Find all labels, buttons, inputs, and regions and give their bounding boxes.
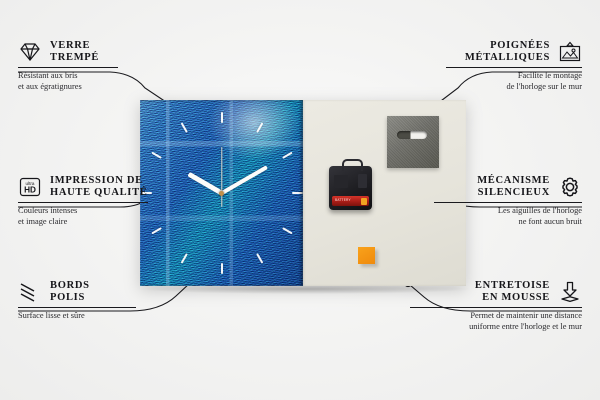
foam-spacer-icon — [558, 280, 582, 304]
feature-entretoise-mousse: ENTRETOISE EN MOUSSE Permet de maintenir… — [382, 280, 582, 332]
feature-sub-line1: Permet de maintenir une distance — [382, 311, 582, 322]
svg-text:HD: HD — [24, 186, 36, 195]
feature-sub-line1: Résistant aux bris — [18, 71, 218, 82]
feature-title-line1: IMPRESSION DE — [50, 175, 148, 187]
silent-clock-mechanism: BATTERY — [329, 166, 372, 210]
mechanism-detail-left — [334, 175, 348, 188]
infographic-canvas: BATTERY VERRE TREMPÉ Résistant aux br — [0, 0, 600, 400]
hanger-keyhole-slot — [397, 131, 427, 139]
feature-title-line1: ENTRETOISE — [475, 280, 550, 292]
feature-sub-line2: de l'horloge sur le mur — [382, 82, 582, 93]
orange-foam-spacer — [358, 247, 375, 264]
feature-title-line1: POIGNÉES — [465, 40, 550, 52]
feature-divider — [18, 307, 136, 308]
gear-icon — [558, 175, 582, 199]
feature-bords-polis: BORDS POLIS Surface lisse et sûre — [18, 280, 218, 322]
feature-title-line2: HAUTE QUALITÉ — [50, 187, 148, 199]
feature-divider — [434, 202, 582, 203]
feature-title-line2: TREMPÉ — [50, 52, 99, 64]
feature-title-line2: EN MOUSSE — [475, 292, 550, 304]
ultra-hd-icon: ultra HD — [18, 175, 42, 199]
feature-mecanisme-silencieux: MÉCANISME SILENCIEUX Les aiguilles de l'… — [382, 175, 582, 227]
feature-verre-trempe: VERRE TREMPÉ Résistant aux bris et aux é… — [18, 40, 218, 92]
feature-divider — [446, 67, 582, 68]
metal-hanger-plate — [387, 116, 439, 168]
feature-title-line1: VERRE — [50, 40, 99, 52]
feature-sub-line1: Facilite le montage — [382, 71, 582, 82]
mechanism-hanging-loop — [342, 159, 363, 171]
feature-sub-line1: Surface lisse et sûre — [18, 311, 218, 322]
feature-divider — [410, 307, 582, 308]
diamond-icon — [18, 40, 42, 64]
battery-positive-terminal — [361, 198, 367, 205]
polished-edges-icon — [18, 280, 42, 304]
feature-poignees-metalliques: POIGNÉES MÉTALLIQUES Facilite le montage… — [382, 40, 582, 92]
picture-hanger-icon — [558, 40, 582, 64]
feature-title-line2: SILENCIEUX — [477, 187, 550, 199]
feature-divider — [18, 67, 118, 68]
feature-sub-line1: Les aiguilles de l'horloge — [382, 206, 582, 217]
mechanism-detail-right — [358, 174, 367, 188]
feature-divider — [18, 202, 148, 203]
feature-sub-line1: Couleurs intenses — [18, 206, 218, 217]
feature-sub-line2: et aux égratignures — [18, 82, 218, 93]
feature-title-line2: POLIS — [50, 292, 90, 304]
feature-title-line1: BORDS — [50, 280, 90, 292]
feature-sub-line2: uniforme entre l'horloge et le mur — [382, 322, 582, 333]
feature-sub-line2: ne font aucun bruit — [382, 217, 582, 228]
feature-title-line2: MÉTALLIQUES — [465, 52, 550, 64]
battery: BATTERY — [332, 196, 369, 206]
feature-title-line1: MÉCANISME — [477, 175, 550, 187]
feature-sub-line2: et image claire — [18, 217, 218, 228]
feature-impression-hd: ultra HD IMPRESSION DE HAUTE QUALITÉ Cou… — [18, 175, 218, 227]
battery-label: BATTERY — [335, 198, 351, 202]
